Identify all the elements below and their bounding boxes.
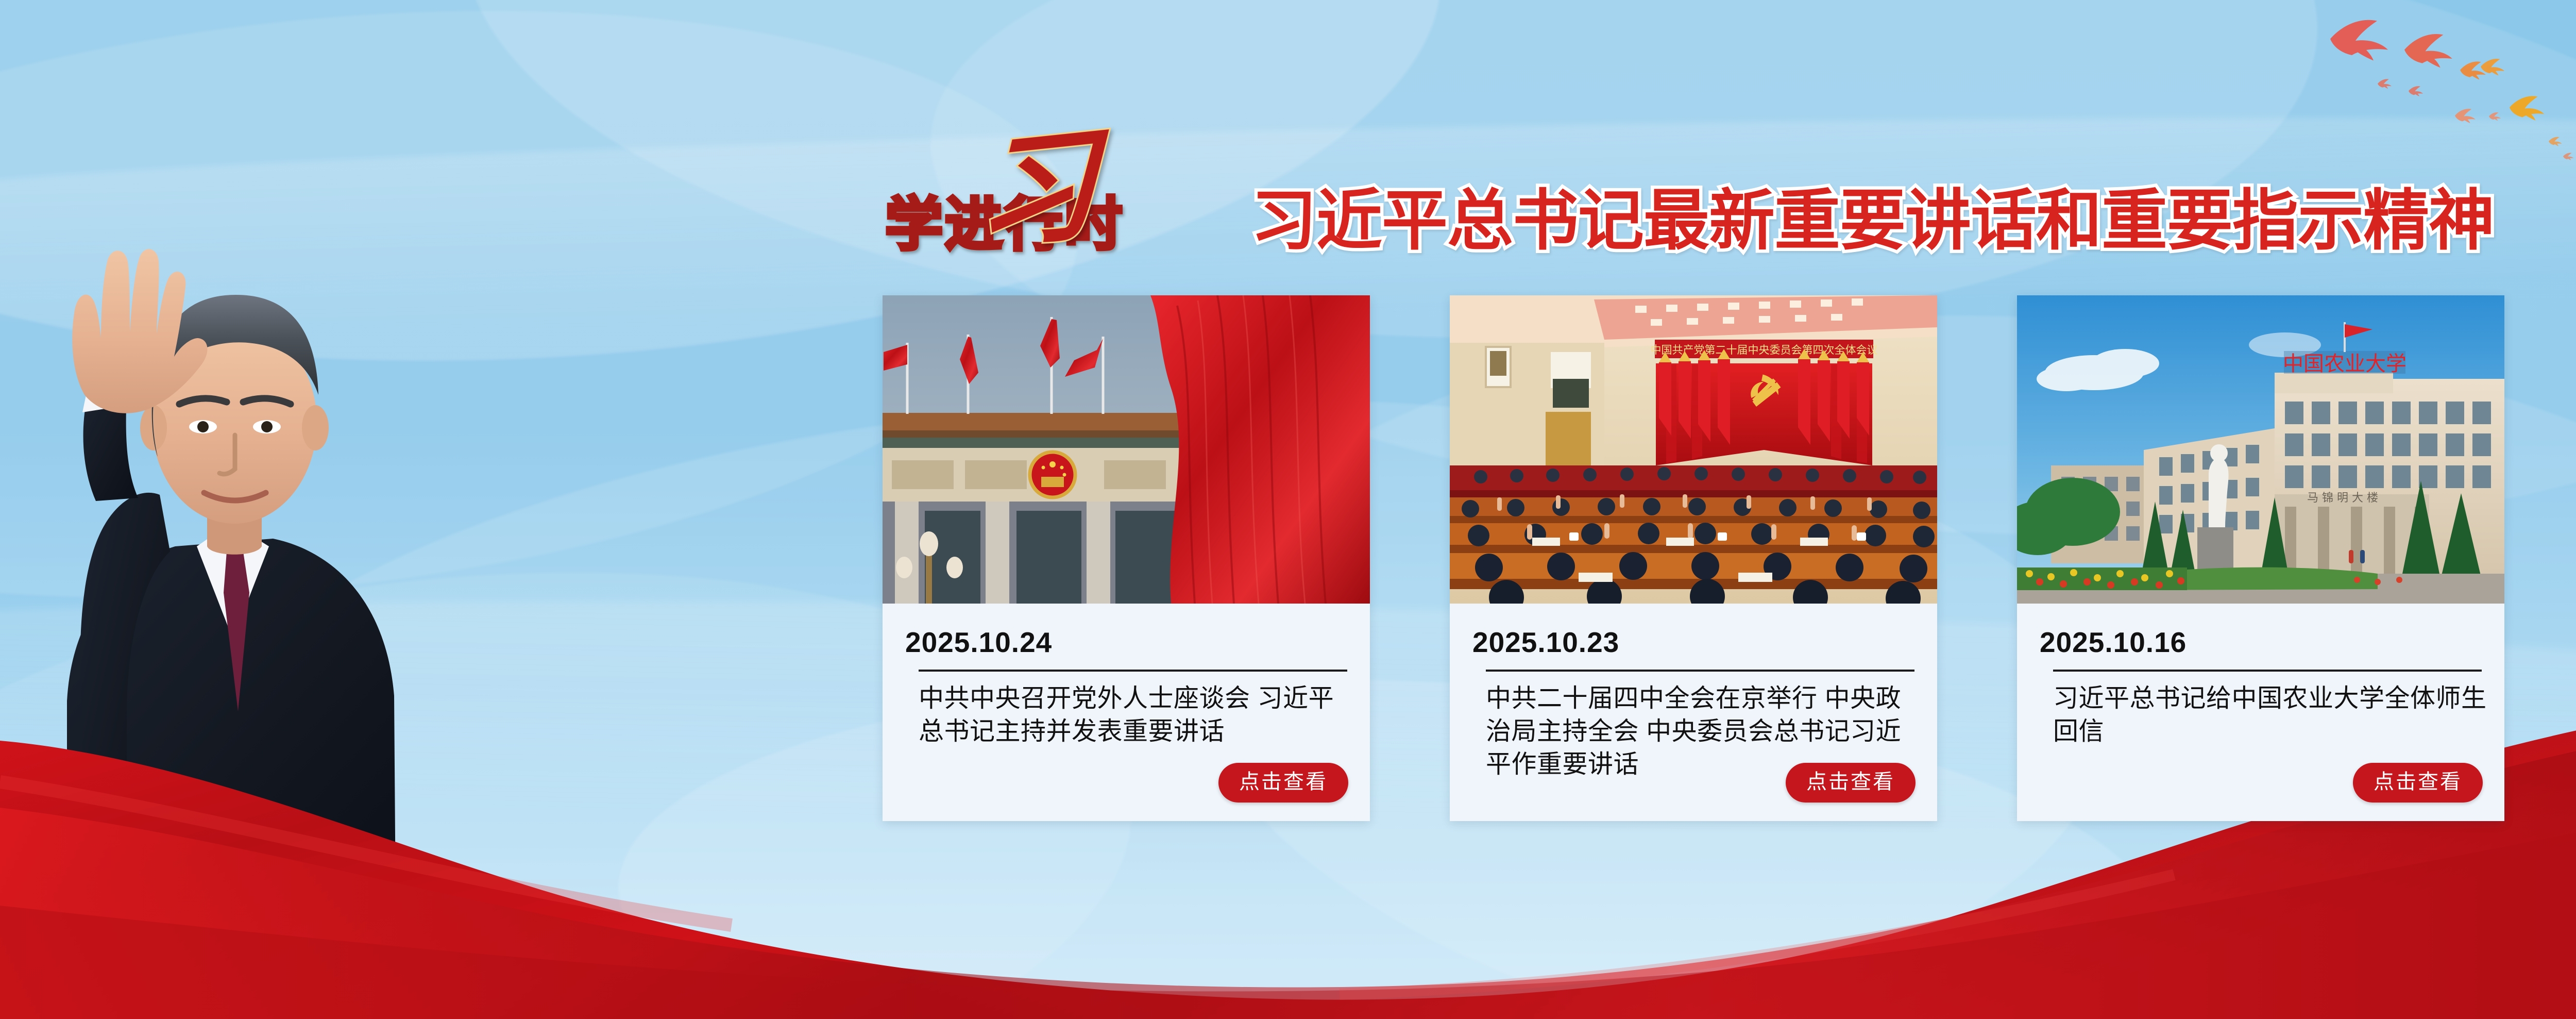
card-body: 2025.10.24 中共中央召开党外人士座谈会 习近平总书记主持并发表重要讲话…	[883, 604, 1370, 821]
view-button[interactable]: 点击查看	[1786, 763, 1916, 803]
card-image-agricultural-university: 马 锦 明 大 楼 中国农业大学	[2017, 295, 2504, 604]
card-body: 2025.10.23 中共二十届四中全会在京举行 中央政治局主持全会 中央委员会…	[1450, 604, 1937, 821]
card-date: 2025.10.24	[905, 628, 1052, 657]
card-image-great-hall	[883, 295, 1370, 604]
university-sign-text: 中国农业大学	[2283, 352, 2406, 376]
news-card[interactable]: 2025.10.24 中共中央召开党外人士座谈会 习近平总书记主持并发表重要讲话…	[883, 295, 1370, 821]
view-button[interactable]: 点击查看	[2353, 763, 2483, 803]
card-divider	[919, 670, 1347, 672]
card-date: 2025.10.16	[2040, 628, 2187, 657]
news-card-list: 2025.10.24 中共中央召开党外人士座谈会 习近平总书记主持并发表重要讲话…	[883, 295, 2505, 821]
banner-stage: 学进行时 习 习近平总书记最新重要讲话和重要指示精神	[0, 0, 2576, 1019]
card-date: 2025.10.23	[1472, 628, 1619, 657]
logo-accent-char: 习	[976, 122, 1097, 257]
card-title: 习近平总书记给中国农业大学全体师生回信	[2053, 682, 2489, 748]
news-card[interactable]: 中国共产党第二十届中央委员会第四次全体会议	[1450, 295, 1937, 821]
card-body: 2025.10.16 习近平总书记给中国农业大学全体师生回信 点击查看	[2017, 604, 2504, 821]
building-sign-text: 马 锦 明 大 楼	[2307, 492, 2378, 505]
page-title: 习近平总书记最新重要讲话和重要指示精神	[1251, 179, 2576, 267]
card-divider	[2053, 670, 2482, 672]
view-button[interactable]: 点击查看	[1218, 763, 1348, 803]
program-logo: 学进行时 习	[885, 138, 1256, 257]
card-image-plenary-session: 中国共产党第二十届中央委员会第四次全体会议	[1450, 295, 1937, 604]
card-divider	[1486, 670, 1914, 672]
flying-doves-icon	[2281, 0, 2576, 170]
card-title: 中共中央召开党外人士座谈会 习近平总书记主持并发表重要讲话	[919, 682, 1354, 748]
news-card[interactable]: 马 锦 明 大 楼 中国农业大学	[2017, 295, 2504, 821]
